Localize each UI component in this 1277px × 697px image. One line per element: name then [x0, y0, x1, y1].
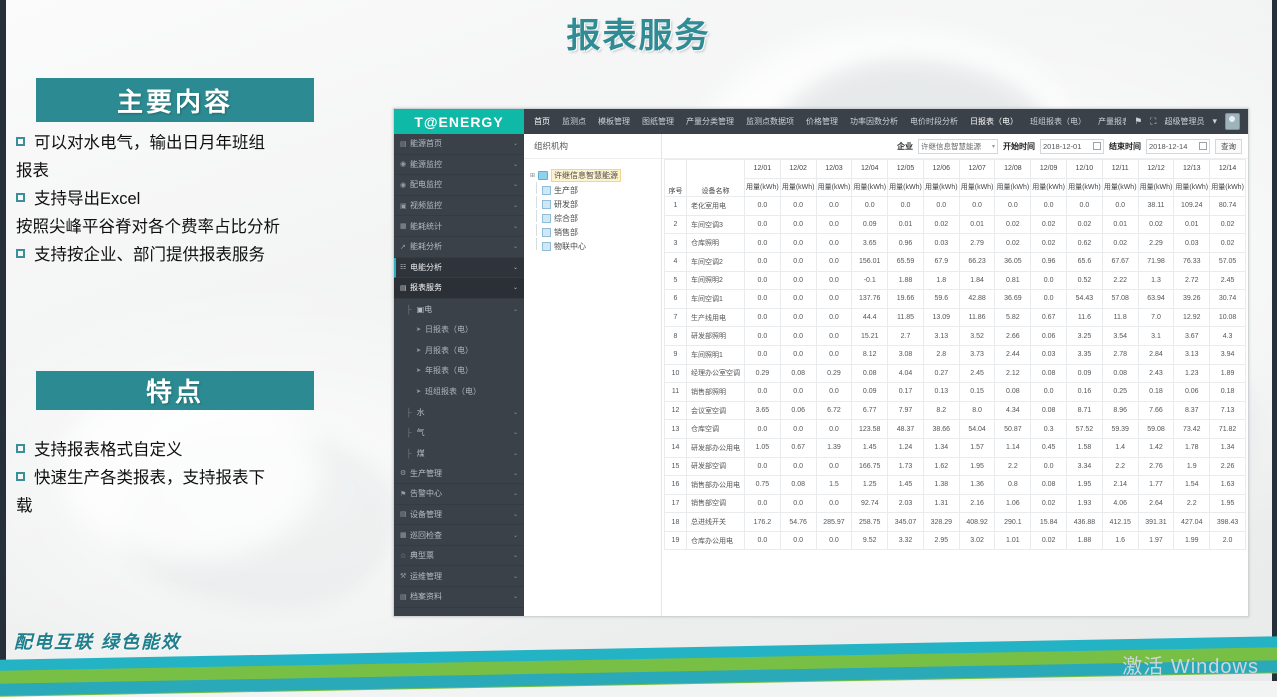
fullscreen-icon[interactable]: ⛶: [1150, 117, 1156, 126]
chevron-right-icon: ➤: [416, 347, 421, 354]
chevron-down-icon: ⌄: [513, 264, 518, 271]
cell-value: 0.06: [1174, 383, 1210, 402]
cell-value: 0.08: [995, 383, 1031, 402]
cell-value: 0.02: [1210, 234, 1246, 253]
cell-value: 59.08: [1138, 420, 1174, 439]
cell-value: 0.0: [1031, 383, 1067, 402]
cell-value: 0.0: [780, 197, 816, 216]
cell-value: 1.06: [995, 494, 1031, 513]
cell-value: 8.2: [923, 401, 959, 420]
cell-value: 1.99: [1174, 531, 1210, 550]
bullet-item: 支持按企业、部门提供报表服务: [14, 242, 364, 268]
tree-children[interactable]: 生产部研发部综合部销售部物联中心: [530, 185, 661, 252]
sidebar-item-16[interactable]: ⚙生产管理⌄: [394, 464, 524, 485]
app-logo[interactable]: T@ENERGY: [394, 109, 524, 134]
node-icon: [542, 214, 551, 223]
cell-value: 1.3: [1138, 271, 1174, 290]
cell-value: 0.02: [995, 215, 1031, 234]
cell-value: 176.2: [745, 513, 781, 532]
cell-value: 1.4: [1102, 438, 1138, 457]
cell-value: 67.67: [1102, 252, 1138, 271]
cell-value: 3.25: [1067, 327, 1103, 346]
cell-value: 6.72: [816, 401, 852, 420]
cell-device-name: 车间空调2: [687, 252, 745, 271]
cell-value: 0.0: [1067, 197, 1103, 216]
sidebar-item-0[interactable]: ▤能源首页⌄: [394, 134, 524, 155]
sidebar-subitem-label: 班组报表（电）: [425, 386, 481, 397]
sidebar-subitem-11[interactable]: ➤年报表（电）: [394, 361, 524, 382]
nav-item-9[interactable]: 日报表（电）: [964, 109, 1024, 134]
sidebar-item-1[interactable]: ◉能源监控⌄: [394, 155, 524, 176]
cell-value: 0.08: [852, 364, 888, 383]
cell-value: 2.0: [1210, 531, 1246, 550]
chevron-right-icon: ➤: [416, 326, 421, 333]
sidebar-group-8[interactable]: ├▣电⌄: [394, 299, 524, 320]
sidebar-group-13[interactable]: ├水⌄: [394, 402, 524, 423]
cell-value: 15.84: [1031, 513, 1067, 532]
cell-value: 1.63: [1210, 476, 1246, 495]
cell-value: 0.08: [780, 476, 816, 495]
cell-value: 0.16: [1067, 383, 1103, 402]
table-row[interactable]: 19仓库办公用电0.00.00.09.523.322.953.021.010.0…: [665, 531, 1246, 550]
sidebar-item-label: 能源监控: [410, 159, 513, 170]
cell-device-name: 销售部办公用电: [687, 476, 745, 495]
cell-value: 0.0: [816, 308, 852, 327]
report-table-wrapper: 序号设备名称12/0112/0212/0312/0412/0512/0612/0…: [662, 159, 1248, 617]
cell-value: 328.29: [923, 513, 959, 532]
nav-item-4[interactable]: 产量分类管理: [680, 109, 740, 134]
cell-value: 1.73: [888, 457, 924, 476]
table-row[interactable]: 6车间空调10.00.00.0137.7619.6659.642.8836.69…: [665, 290, 1246, 309]
col-header-unit-1: 用量(kWh): [780, 178, 816, 197]
cell-value: 0.02: [995, 234, 1031, 253]
report-table-head: 序号设备名称12/0112/0212/0312/0412/0512/0612/0…: [665, 160, 1246, 197]
end-date-input[interactable]: 2018-12-14: [1146, 139, 1210, 154]
cell-value: 2.26: [1210, 457, 1246, 476]
cell-value: 1.34: [923, 438, 959, 457]
nav-item-0[interactable]: 首页: [528, 109, 556, 134]
cell-value: 0.52: [1067, 271, 1103, 290]
cell-device-name: 研发部照明: [687, 327, 745, 346]
col-header-date-2: 12/03: [816, 160, 852, 179]
sidebar-item-label: 设备管理: [410, 509, 513, 520]
table-row[interactable]: 5车间照明20.00.00.0-0.11.881.81.840.810.00.5…: [665, 271, 1246, 290]
sidebar-subitem-12[interactable]: ➤班组报表（电）: [394, 381, 524, 402]
cell-value: 0.0: [745, 215, 781, 234]
table-row[interactable]: 8研发部照明0.00.00.015.212.73.133.522.660.063…: [665, 327, 1246, 346]
cell-value: 0.0: [852, 197, 888, 216]
nav-item-1[interactable]: 监测点: [556, 109, 592, 134]
cell-value: 0.0: [780, 308, 816, 327]
nav-item-2[interactable]: 模板管理: [592, 109, 636, 134]
tree-node-3[interactable]: 销售部: [542, 227, 661, 238]
table-row[interactable]: 2车间空调30.00.00.00.090.010.020.010.020.020…: [665, 215, 1246, 234]
cell-value: 1.5: [816, 476, 852, 495]
cell-value: 1.97: [1138, 531, 1174, 550]
nav-item-3[interactable]: 图纸管理: [636, 109, 680, 134]
cell-value: 0.08: [1031, 476, 1067, 495]
col-header-unit-13: 用量(kWh): [1210, 178, 1246, 197]
node-icon: [542, 242, 551, 251]
col-header-unit-5: 用量(kWh): [923, 178, 959, 197]
tree-node-label: 销售部: [554, 227, 578, 238]
user-menu-label[interactable]: 超级管理员: [1164, 116, 1204, 127]
table-row[interactable]: 9车间照明10.00.00.08.123.082.83.732.440.033.…: [665, 345, 1246, 364]
table-row[interactable]: 14研发部办公用电1.050.671.391.451.241.341.571.1…: [665, 438, 1246, 457]
cell-device-name: 研发部空调: [687, 457, 745, 476]
col-header-unit-10: 用量(kWh): [1102, 178, 1138, 197]
tree-expand-icon[interactable]: ⊞: [530, 172, 535, 179]
cell-device-name: 车间空调1: [687, 290, 745, 309]
cell-value: 0.0: [780, 494, 816, 513]
calendar-icon[interactable]: [1199, 142, 1207, 150]
cell-index: 5: [665, 271, 687, 290]
cell-value: 0.02: [1138, 215, 1174, 234]
cell-value: 1.78: [1174, 438, 1210, 457]
cell-value: 0.06: [1031, 327, 1067, 346]
avatar[interactable]: [1225, 113, 1240, 130]
sidebar-item-21[interactable]: ⚒运维管理⌄: [394, 566, 524, 587]
cell-value: 0.0: [1031, 197, 1067, 216]
cell-value: 0.29: [816, 364, 852, 383]
sidebar-subitem-label: 年报表（电）: [425, 365, 473, 376]
sidebar-group-label: 水: [417, 407, 425, 418]
table-row[interactable]: 12会议室空调3.650.066.726.777.978.28.04.340.0…: [665, 401, 1246, 420]
cell-value: 19.66: [888, 290, 924, 309]
cell-value: 42.88: [959, 290, 995, 309]
cell-index: 7: [665, 308, 687, 327]
cell-value: 3.13: [1174, 345, 1210, 364]
cell-value: 0.17: [888, 383, 924, 402]
cell-value: 0.02: [1210, 215, 1246, 234]
cell-value: 59.6: [923, 290, 959, 309]
cell-value: 67.9: [923, 252, 959, 271]
sidebar-item-label: 巡回检查: [410, 530, 513, 541]
table-row[interactable]: 1老化室用电0.00.00.00.00.00.00.00.00.00.00.03…: [665, 197, 1246, 216]
cell-value: 1.25: [852, 476, 888, 495]
cell-value: 11.8: [1102, 308, 1138, 327]
cell-value: 123.58: [852, 420, 888, 439]
cell-value: 0.27: [923, 364, 959, 383]
cell-value: 0.0: [780, 383, 816, 402]
chevron-down-icon: ⌄: [513, 140, 518, 147]
sidebar-item-icon: ⚒: [400, 572, 410, 580]
cell-value: 2.2: [1102, 457, 1138, 476]
cell-value: 1.88: [1067, 531, 1103, 550]
start-date-value: 2018-12-01: [1043, 142, 1081, 151]
table-row[interactable]: 15研发部空调0.00.00.0166.751.731.621.952.20.0…: [665, 457, 1246, 476]
bullet-item: 可以对水电气，输出日月年班组: [14, 130, 364, 156]
tree-root-node[interactable]: ⊞ 许继信息智慧能源: [530, 169, 661, 182]
tree-panel-header: 组织机构: [524, 134, 661, 159]
cell-value: 8.37: [1174, 401, 1210, 420]
bullet-square-icon: [16, 444, 25, 453]
cell-value: 258.75: [852, 513, 888, 532]
cell-value: 0.15: [959, 383, 995, 402]
table-row[interactable]: 16销售部办公用电0.750.081.51.251.451.381.360.80…: [665, 476, 1246, 495]
cell-value: 2.7: [888, 327, 924, 346]
col-header-date-0: 12/01: [745, 160, 781, 179]
cell-value: 0.0: [816, 345, 852, 364]
node-icon: [542, 200, 551, 209]
cell-value: 2.43: [1138, 364, 1174, 383]
sidebar-item-6[interactable]: ☷电能分析⌄: [394, 258, 524, 279]
sidebar-item-20[interactable]: ☆典型票⌄: [394, 546, 524, 567]
tree-node-label: 生产部: [554, 185, 578, 196]
cell-value: 0.0: [816, 494, 852, 513]
cell-value: 0.01: [888, 215, 924, 234]
cell-value: 1.36: [959, 476, 995, 495]
tree-node-2[interactable]: 综合部: [542, 213, 661, 224]
sidebar-subitem-10[interactable]: ➤月报表（电）: [394, 340, 524, 361]
cell-index: 4: [665, 252, 687, 271]
top-navigation[interactable]: 首页监测点模板管理图纸管理产量分类管理监测点数据项价格管理功率因数分析电价时段分…: [524, 109, 1126, 134]
chevron-down-icon: ⌄: [513, 243, 518, 250]
col-header-device-name: 设备名称: [687, 160, 745, 197]
chevron-down-icon: ⌄: [513, 593, 518, 600]
bullet-continuation-text: 按照尖峰平谷脊对各个费率占比分析: [16, 214, 364, 240]
cell-value: 0.67: [1031, 308, 1067, 327]
col-header-unit-7: 用量(kWh): [995, 178, 1031, 197]
table-row[interactable]: 3仓库照明0.00.00.03.650.960.032.790.020.020.…: [665, 234, 1246, 253]
cell-value: 7.0: [1138, 308, 1174, 327]
cell-value: 50.87: [995, 420, 1031, 439]
node-icon: [542, 228, 551, 237]
cell-value: 8.96: [1102, 401, 1138, 420]
tree-body[interactable]: ⊞ 许继信息智慧能源 生产部研发部综合部销售部物联中心: [524, 159, 661, 255]
cell-value: 3.08: [888, 345, 924, 364]
table-row[interactable]: 17销售部空调0.00.00.092.742.031.312.161.060.0…: [665, 494, 1246, 513]
cell-value: 11.85: [888, 308, 924, 327]
cell-value: 0.18: [1138, 383, 1174, 402]
calendar-icon[interactable]: [1093, 142, 1101, 150]
bell-icon[interactable]: ⚑: [1134, 117, 1142, 126]
cell-value: 3.94: [1210, 345, 1246, 364]
sidebar-item-icon: ☆: [400, 552, 410, 560]
table-row[interactable]: 18总进线开关176.254.76285.97258.75345.07328.2…: [665, 513, 1246, 532]
cell-device-name: 销售部照明: [687, 383, 745, 402]
cell-index: 10: [665, 364, 687, 383]
sidebar-item-label: 告警中心: [410, 488, 513, 499]
cell-value: 2.72: [1174, 271, 1210, 290]
chevron-down-icon: ⌄: [513, 429, 524, 436]
table-row[interactable]: 4车间空调20.00.00.0156.0165.5967.966.2336.05…: [665, 252, 1246, 271]
cell-value: 1.95: [1067, 476, 1103, 495]
cell-value: 0.0: [745, 383, 781, 402]
col-header-date-1: 12/02: [780, 160, 816, 179]
bullet-text: 支持按企业、部门提供报表服务: [34, 242, 364, 268]
sidebar-item-7[interactable]: ▤报表服务⌄: [394, 278, 524, 299]
chevron-right-icon: ➤: [416, 367, 421, 374]
cell-value: 0.08: [780, 364, 816, 383]
cell-value: 0.0: [816, 327, 852, 346]
col-header-unit-0: 用量(kWh): [745, 178, 781, 197]
cell-value: 2.44: [995, 345, 1031, 364]
app-sidebar[interactable]: ▤能源首页⌄◉能源监控⌄◉配电监控⌄▣视频监控⌄▦能耗统计⌄↗能耗分析⌄☷电能分…: [394, 134, 524, 617]
chevron-down-icon[interactable]: ▾: [1212, 117, 1217, 126]
cell-value: 3.73: [959, 345, 995, 364]
cell-value: 13.09: [923, 308, 959, 327]
cell-value: 3.34: [1067, 457, 1103, 476]
sidebar-item-4[interactable]: ▦能耗统计⌄: [394, 216, 524, 237]
cell-value: 0.0: [745, 308, 781, 327]
end-date-value: 2018-12-14: [1149, 142, 1187, 151]
cell-value: 0.0: [780, 531, 816, 550]
sidebar-item-22[interactable]: ▤档案资料⌄: [394, 587, 524, 608]
cell-value: 109.24: [1174, 197, 1210, 216]
cell-value: 0.0: [816, 197, 852, 216]
cell-value: 2.12: [995, 364, 1031, 383]
cell-value: 345.07: [888, 513, 924, 532]
cell-index: 12: [665, 401, 687, 420]
report-table-body: 1老化室用电0.00.00.00.00.00.00.00.00.00.00.03…: [665, 197, 1246, 550]
sidebar-subitem-9[interactable]: ➤日报表（电）: [394, 319, 524, 340]
sidebar-item-5[interactable]: ↗能耗分析⌄: [394, 237, 524, 258]
bullet-item: 支持导出Excel: [14, 186, 364, 212]
tree-node-0[interactable]: 生产部: [542, 185, 661, 196]
sidebar-item-2[interactable]: ◉配电监控⌄: [394, 175, 524, 196]
cell-value: 1.95: [959, 457, 995, 476]
cell-value: 0.0: [745, 252, 781, 271]
cell-value: 36.05: [995, 252, 1031, 271]
cell-value: 2.2: [995, 457, 1031, 476]
table-row[interactable]: 13仓库空调0.00.00.0123.5848.3738.6654.0450.8…: [665, 420, 1246, 439]
col-header-date-12: 12/13: [1174, 160, 1210, 179]
cell-value: 76.33: [1174, 252, 1210, 271]
cell-value: 1.57: [959, 438, 995, 457]
sidebar-item-label: 电能分析: [410, 262, 513, 273]
cell-index: 16: [665, 476, 687, 495]
cell-value: 0.02: [1031, 494, 1067, 513]
cell-value: 57.52: [1067, 420, 1103, 439]
cell-value: 0.09: [852, 383, 888, 402]
nav-item-10[interactable]: 班组报表（电）: [1024, 109, 1092, 134]
cell-value: 11.6: [1067, 308, 1103, 327]
sidebar-item-icon: ▦: [400, 222, 410, 230]
cell-value: 65.59: [888, 252, 924, 271]
cell-value: 3.67: [1174, 327, 1210, 346]
sidebar-item-label: 档案资料: [410, 591, 513, 602]
col-header-date-5: 12/06: [923, 160, 959, 179]
sidebar-group-14[interactable]: ├气⌄: [394, 422, 524, 443]
tree-node-1[interactable]: 研发部: [542, 199, 661, 210]
chevron-down-icon: ⌄: [513, 532, 518, 539]
sidebar-item-3[interactable]: ▣视频监控⌄: [394, 196, 524, 217]
sidebar-group-15[interactable]: ├煤⌄: [394, 443, 524, 464]
cell-value: 0.03: [923, 234, 959, 253]
col-header-date-9: 12/10: [1067, 160, 1103, 179]
bullet-text: 支持导出Excel: [34, 186, 364, 212]
cell-value: 0.0: [780, 252, 816, 271]
cell-value: 3.65: [745, 401, 781, 420]
col-header-date-10: 12/11: [1102, 160, 1138, 179]
slide-right-edge: [1272, 0, 1277, 681]
table-row[interactable]: 10经理办公室空调0.290.080.290.084.040.272.452.1…: [665, 364, 1246, 383]
cell-value: 71.82: [1210, 420, 1246, 439]
cell-value: 0.3: [1031, 420, 1067, 439]
cell-value: 44.4: [852, 308, 888, 327]
cell-value: 0.0: [816, 271, 852, 290]
cell-value: 0.08: [1031, 401, 1067, 420]
nav-item-5[interactable]: 监测点数据项: [740, 109, 800, 134]
cell-value: 0.09: [1067, 364, 1103, 383]
end-time-label: 结束时间: [1109, 141, 1141, 152]
cell-value: 1.45: [852, 438, 888, 457]
cell-value: 1.9: [1174, 457, 1210, 476]
cell-device-name: 车间照明2: [687, 271, 745, 290]
cell-value: 3.54: [1102, 327, 1138, 346]
cell-value: 0.0: [745, 345, 781, 364]
sidebar-group-icon: ▣: [417, 305, 425, 314]
cell-value: 0.13: [923, 383, 959, 402]
cell-value: 408.92: [959, 513, 995, 532]
cell-value: 2.22: [1102, 271, 1138, 290]
cell-value: 3.13: [923, 327, 959, 346]
col-header-unit-12: 用量(kWh): [1174, 178, 1210, 197]
cell-value: 0.62: [1067, 234, 1103, 253]
nav-item-8[interactable]: 电价时段分析: [904, 109, 964, 134]
cell-value: 0.06: [780, 401, 816, 420]
cell-value: 1.14: [995, 438, 1031, 457]
cell-value: 0.0: [816, 457, 852, 476]
chevron-down-icon: ⌄: [513, 223, 518, 230]
cell-value: 59.39: [1102, 420, 1138, 439]
cell-value: 0.0: [816, 290, 852, 309]
tree-node-4[interactable]: 物联中心: [542, 241, 661, 252]
chevron-down-icon: ⌄: [513, 284, 518, 291]
cell-value: 73.42: [1174, 420, 1210, 439]
sidebar-group-label: 煤: [417, 448, 425, 459]
cell-index: 9: [665, 345, 687, 364]
tree-branch-icon: ├: [406, 449, 412, 458]
sidebar-item-label: 报表服务: [410, 282, 513, 293]
cell-value: 57.08: [1102, 290, 1138, 309]
start-date-input[interactable]: 2018-12-01: [1040, 139, 1104, 154]
cell-value: 2.45: [1210, 271, 1246, 290]
app-content: 企业 许继信息智慧能源 ▾ 开始时间 2018-12-01 结束时间 2018-…: [662, 134, 1248, 617]
cell-value: 290.1: [995, 513, 1031, 532]
tree-node-label: 研发部: [554, 199, 578, 210]
sidebar-item-label: 能耗统计: [410, 221, 513, 232]
cell-value: 3.02: [959, 531, 995, 550]
table-row[interactable]: 11销售部照明0.00.00.00.090.170.130.150.080.00…: [665, 383, 1246, 402]
cell-value: 92.74: [852, 494, 888, 513]
sidebar-group-label: 气: [417, 427, 425, 438]
chevron-down-icon: ⌄: [513, 409, 524, 416]
cell-index: 17: [665, 494, 687, 513]
cell-value: 0.02: [1031, 531, 1067, 550]
query-button[interactable]: 查询: [1215, 139, 1242, 154]
sidebar-item-17[interactable]: ⚑告警中心⌄: [394, 484, 524, 505]
sidebar-item-icon: ▣: [400, 202, 410, 210]
sidebar-item-19[interactable]: ▦巡回检查⌄: [394, 525, 524, 546]
enterprise-select[interactable]: 许继信息智慧能源 ▾: [918, 139, 998, 154]
cell-value: 4.3: [1210, 327, 1246, 346]
bullet-text: 快速生产各类报表，支持报表下: [34, 465, 364, 491]
cell-value: 1.8: [923, 271, 959, 290]
nav-item-6[interactable]: 价格管理: [800, 109, 844, 134]
cell-value: 1.93: [1067, 494, 1103, 513]
bullet-item: 快速生产各类报表，支持报表下: [14, 465, 364, 491]
cell-value: -0.1: [852, 271, 888, 290]
nav-item-7[interactable]: 功率因数分析: [844, 109, 904, 134]
sidebar-item-18[interactable]: ▤设备管理⌄: [394, 505, 524, 526]
cell-value: 4.34: [995, 401, 1031, 420]
cell-value: 0.03: [1174, 234, 1210, 253]
table-row[interactable]: 7生产线用电0.00.00.044.411.8513.0911.865.820.…: [665, 308, 1246, 327]
cell-index: 6: [665, 290, 687, 309]
nav-item-11[interactable]: 产量报表: [1092, 109, 1126, 134]
